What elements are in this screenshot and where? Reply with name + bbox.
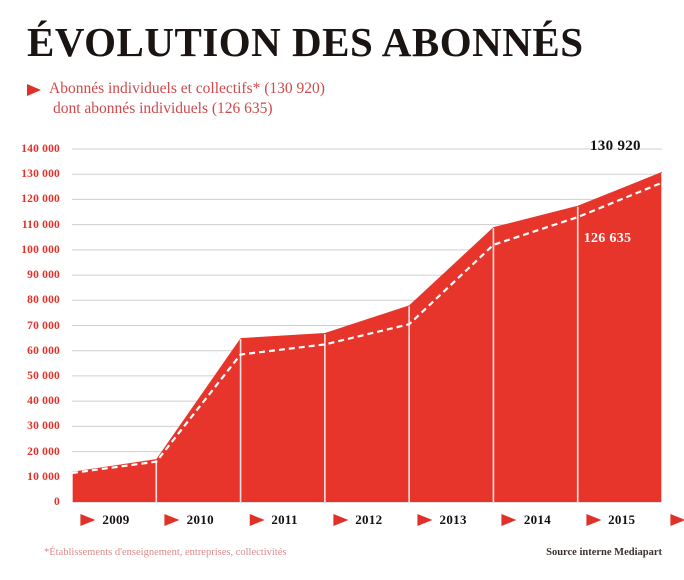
- triangle-right-icon: [80, 514, 95, 526]
- triangle-right-icon: [418, 514, 433, 526]
- chart-plot-area: 010 00020 00030 00040 00050 00060 00070 …: [0, 0, 684, 580]
- x-axis-tick-2014: 2014: [502, 512, 551, 528]
- x-axis-tick-2012: 2012: [333, 512, 382, 528]
- y-axis-tick-label: 80 000: [0, 294, 60, 306]
- x-axis-tick-2011: 2011: [249, 512, 297, 528]
- triangle-right-icon: [333, 514, 348, 526]
- y-axis-tick-label: 100 000: [0, 244, 60, 256]
- x-axis-tick-label: 2015: [608, 512, 635, 528]
- x-axis-tick-label: 2009: [102, 512, 129, 528]
- x-axis-tick-2013: 2013: [418, 512, 467, 528]
- y-axis-tick-label: 20 000: [0, 446, 60, 458]
- y-axis-tick-label: 130 000: [0, 168, 60, 180]
- area-series-total: [72, 172, 662, 502]
- x-axis-tick-2010: 2010: [165, 512, 214, 528]
- footnote-text: *Établissements d'enseignement, entrepri…: [44, 547, 286, 558]
- chart-svg: [0, 0, 684, 580]
- data-label-individual: 126 635: [584, 231, 632, 247]
- y-axis-tick-label: 10 000: [0, 471, 60, 483]
- x-axis-tick-label: 2012: [355, 512, 382, 528]
- x-axis-tick-label: 2014: [524, 512, 551, 528]
- data-label-total: 130 920: [590, 138, 641, 155]
- y-axis-tick-label: 50 000: [0, 370, 60, 382]
- triangle-right-icon: [502, 514, 517, 526]
- y-axis-tick-label: 30 000: [0, 420, 60, 432]
- y-axis-tick-label: 70 000: [0, 320, 60, 332]
- triangle-right-icon: [249, 514, 264, 526]
- y-axis-tick-label: 90 000: [0, 269, 60, 281]
- y-axis-tick-label: 40 000: [0, 395, 60, 407]
- triangle-right-icon: [670, 514, 684, 526]
- triangle-right-icon: [586, 514, 601, 526]
- y-axis-tick-label: 140 000: [0, 143, 60, 155]
- x-axis-tick-label: 2011: [271, 512, 297, 528]
- x-axis-tick-2015: 2015: [586, 512, 635, 528]
- x-axis-tick-label: 2013: [440, 512, 467, 528]
- infographic-root: ÉVOLUTION DES ABONNÉS Abonnés individuel…: [0, 0, 684, 580]
- triangle-right-icon: [165, 514, 180, 526]
- y-axis-tick-label: 120 000: [0, 193, 60, 205]
- x-axis-tick-2009: 2009: [80, 512, 129, 528]
- source-text: Source interne Mediapart: [546, 547, 662, 558]
- y-axis-tick-label: 0: [0, 496, 60, 508]
- y-axis-tick-label: 110 000: [0, 219, 60, 231]
- x-axis-tick-2016: 2016: [670, 512, 684, 528]
- x-axis-tick-label: 2010: [187, 512, 214, 528]
- y-axis-tick-label: 60 000: [0, 345, 60, 357]
